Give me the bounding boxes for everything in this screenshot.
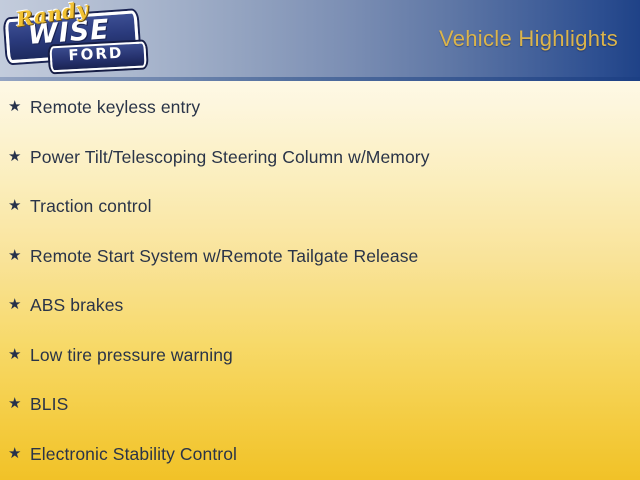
header-bar: Randy WISE FORD Vehicle Highlights [0,0,640,81]
dealership-logo: Randy WISE FORD [4,0,144,81]
feature-label: Remote Start System w/Remote Tailgate Re… [30,243,418,269]
feature-label: Power Tilt/Telescoping Steering Column w… [30,144,430,170]
list-item: ★Remote Start System w/Remote Tailgate R… [8,243,418,269]
list-item: ★Electronic Stability Control [8,441,237,467]
star-bullet-icon: ★ [8,193,30,219]
feature-label: Traction control [30,193,152,219]
logo-brand-banner: FORD [49,42,142,71]
star-bullet-icon: ★ [8,144,30,170]
feature-label: BLIS [30,391,68,417]
list-item: ★ABS brakes [8,292,123,318]
feature-label: ABS brakes [30,292,123,318]
page-title: Vehicle Highlights [439,26,618,52]
feature-label: Electronic Stability Control [30,441,237,467]
vehicle-highlights-list: ★Remote keyless entry★Power Tilt/Telesco… [0,81,640,480]
list-item: ★Remote keyless entry [8,94,200,120]
vehicle-highlights-slide: Randy WISE FORD Vehicle Highlights ★Remo… [0,0,640,480]
star-bullet-icon: ★ [8,342,30,368]
list-item: ★BLIS [8,391,68,417]
feature-label: Remote keyless entry [30,94,200,120]
star-bullet-icon: ★ [8,441,30,467]
list-item: ★Low tire pressure warning [8,342,233,368]
star-bullet-icon: ★ [8,94,30,120]
feature-label: Low tire pressure warning [30,342,233,368]
list-item: ★Traction control [8,193,152,219]
star-bullet-icon: ★ [8,243,30,269]
list-item: ★Power Tilt/Telescoping Steering Column … [8,144,430,170]
star-bullet-icon: ★ [8,391,30,417]
star-bullet-icon: ★ [8,292,30,318]
